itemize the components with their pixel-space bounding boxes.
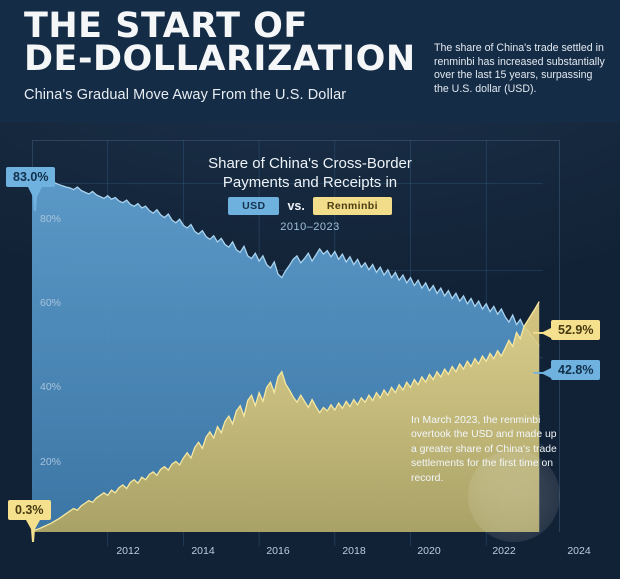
callout-usd-start: 83.0%	[6, 167, 55, 187]
magnifier-lens	[468, 450, 560, 542]
callout-usd-end: 42.8%	[551, 360, 600, 380]
callout-usd-start-pointer	[28, 187, 42, 211]
callout-renminbi-end-pointer	[533, 327, 553, 339]
chart-svg	[0, 140, 620, 570]
infographic-page: THE START OF DE-DOLLARIZATION China's Gr…	[0, 0, 620, 579]
page-title-line2: DE-DOLLARIZATION	[24, 43, 424, 76]
title-block: THE START OF DE-DOLLARIZATION China's Gr…	[24, 10, 424, 103]
header-description: The share of China's trade settled in re…	[434, 42, 606, 96]
header: THE START OF DE-DOLLARIZATION China's Gr…	[0, 0, 620, 122]
page-subtitle: China's Gradual Move Away From the U.S. …	[24, 87, 424, 103]
callout-renminbi-start: 0.3%	[8, 500, 51, 520]
callout-renminbi-end: 52.9%	[551, 320, 600, 340]
chart-canvas	[0, 140, 620, 570]
callout-renminbi-start-pointer	[26, 520, 40, 542]
annotation-backdrop	[404, 546, 544, 570]
callout-usd-end-pointer	[533, 367, 553, 379]
